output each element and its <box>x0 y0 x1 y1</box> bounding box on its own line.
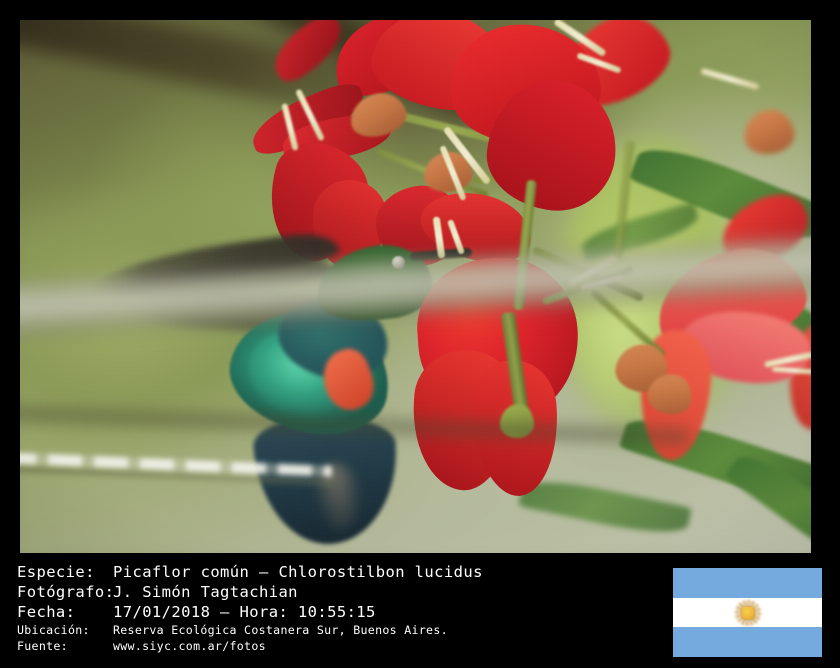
caption-value-especie: Picaflor común — Chlorostilbon lucidus <box>113 562 483 582</box>
caption-label-especie: Especie: <box>17 562 113 582</box>
caption-label-fecha: Fecha: <box>17 602 113 622</box>
flag-stripe-top <box>673 568 822 598</box>
caption-value-ubicacion: Reserva Ecológica Costanera Sur, Buenos … <box>113 622 448 638</box>
sol-de-mayo-icon <box>735 600 761 626</box>
caption-rows: Especie: Picaflor común — Chlorostilbon … <box>17 562 667 654</box>
caption-label-fotografo: Fotógrafo: <box>17 582 113 602</box>
argentina-flag-icon <box>673 568 822 657</box>
flag-stripe-bottom <box>673 627 822 657</box>
caption-row-especie: Especie: Picaflor común — Chlorostilbon … <box>17 562 667 582</box>
caption-value-fuente[interactable]: www.siyc.com.ar/fotos <box>113 638 266 654</box>
caption-row-fotografo: Fotógrafo: J. Simón Tagtachian <box>17 582 667 602</box>
photo-canvas <box>20 20 811 553</box>
caption-row-ubicacion: Ubicación: Reserva Ecológica Costanera S… <box>17 622 667 638</box>
caption-row-fuente: Fuente: www.siyc.com.ar/fotos <box>17 638 667 654</box>
photograph <box>20 20 811 553</box>
caption-row-fecha: Fecha: 17/01/2018 — Hora: 10:55:15 <box>17 602 667 622</box>
caption-label-ubicacion: Ubicación: <box>17 622 113 638</box>
caption-label-fuente: Fuente: <box>17 638 113 654</box>
caption-value-fotografo: J. Simón Tagtachian <box>113 582 298 602</box>
photo-caption-page: Especie: Picaflor común — Chlorostilbon … <box>0 0 840 668</box>
caption-value-fecha: 17/01/2018 — Hora: 10:55:15 <box>113 602 376 622</box>
sun-disc <box>741 606 754 619</box>
